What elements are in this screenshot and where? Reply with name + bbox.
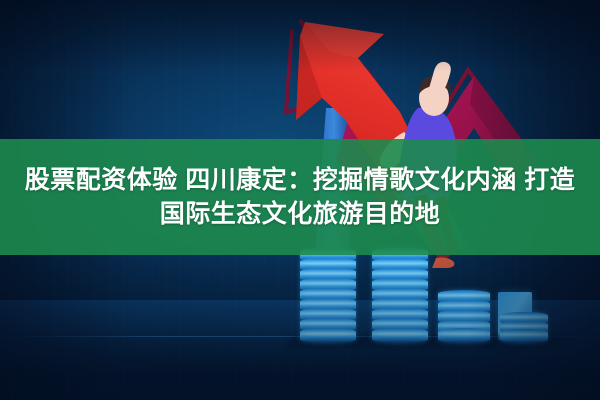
hero-banner-image: 股票配资体验 四川康定：挖掘情歌文化内涵 打造 国际生态文化旅游目的地 (0, 0, 600, 400)
page-title-line-2: 国际生态文化旅游目的地 (160, 199, 441, 230)
title-banner: 股票配资体验 四川康定：挖掘情歌文化内涵 打造 国际生态文化旅游目的地 (0, 139, 600, 255)
page-title-line-1: 股票配资体验 四川康定：挖掘情歌文化内涵 打造 (25, 165, 575, 196)
